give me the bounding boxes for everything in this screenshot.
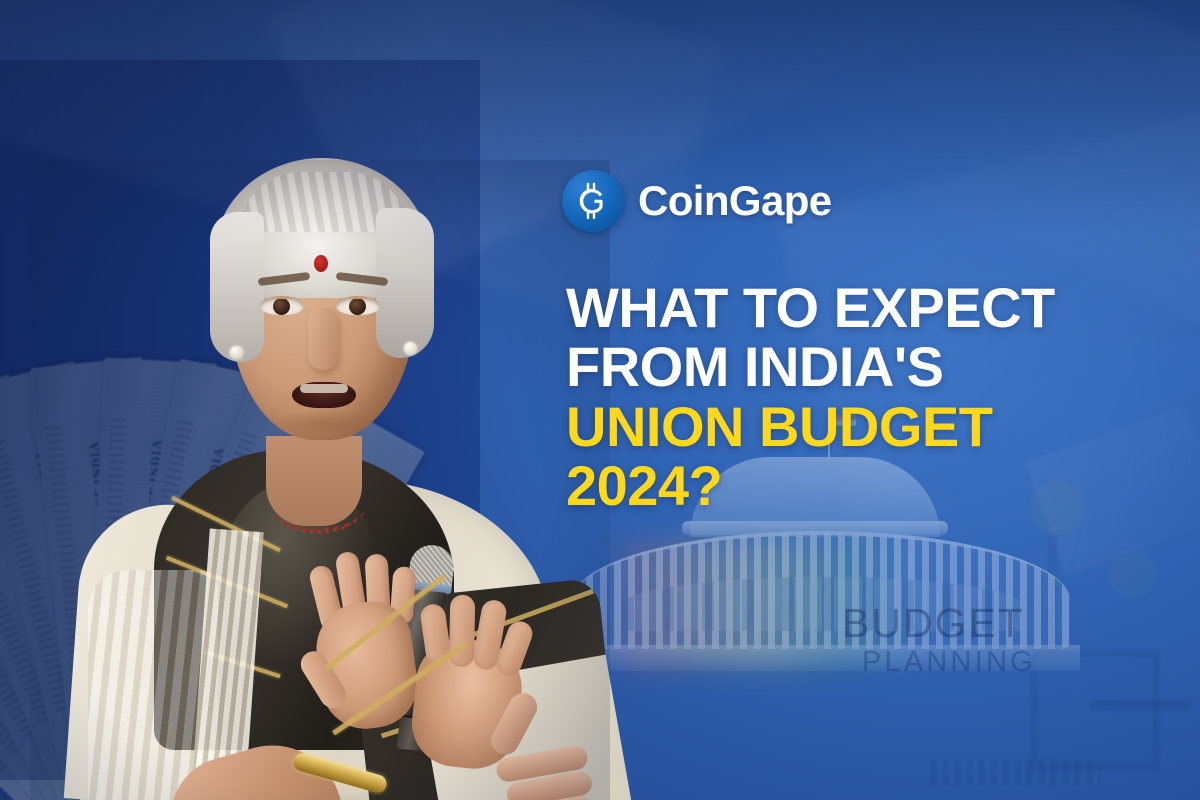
headline-line-4: 2024?	[566, 456, 1166, 515]
pin-head-b-icon	[1108, 550, 1156, 598]
watermark-planning: PLANNING	[862, 646, 1036, 679]
eyelid-right	[336, 296, 380, 299]
earring-left	[230, 346, 243, 359]
subject-portrait	[70, 150, 630, 800]
desk-bar-object	[1090, 700, 1190, 710]
iris-left	[273, 298, 290, 315]
bindi	[314, 255, 328, 272]
bead-necklace-inner	[278, 490, 358, 534]
earring-right	[404, 342, 417, 355]
coingape-logo[interactable]: CoinGape	[562, 170, 832, 232]
watermark-budget: BUDGET	[842, 600, 1025, 647]
eye-left	[260, 296, 304, 315]
eye-right	[336, 296, 380, 315]
coingape-logo-text: CoinGape	[638, 177, 832, 225]
teeth	[300, 384, 348, 393]
headline: WHAT TO EXPECT FROM INDIA'S UNION BUDGET…	[566, 278, 1166, 515]
nose	[308, 308, 338, 370]
hair-left-side	[210, 212, 264, 362]
finger	[449, 595, 475, 667]
eyelid-left	[260, 296, 304, 299]
headline-line-2: FROM INDIA'S	[566, 337, 1166, 396]
iris-right	[349, 298, 366, 315]
coingape-circle-g-logo-icon	[562, 170, 624, 232]
chin-shadow	[272, 410, 376, 436]
headline-line-3: UNION BUDGET	[566, 397, 1166, 456]
article-thumbnail-image: BUDGET PLANNING RESERVE BANK OF INDIA भा…	[0, 0, 1200, 800]
keyboard-object	[930, 760, 1100, 786]
headline-line-1: WHAT TO EXPECT	[566, 278, 1166, 337]
